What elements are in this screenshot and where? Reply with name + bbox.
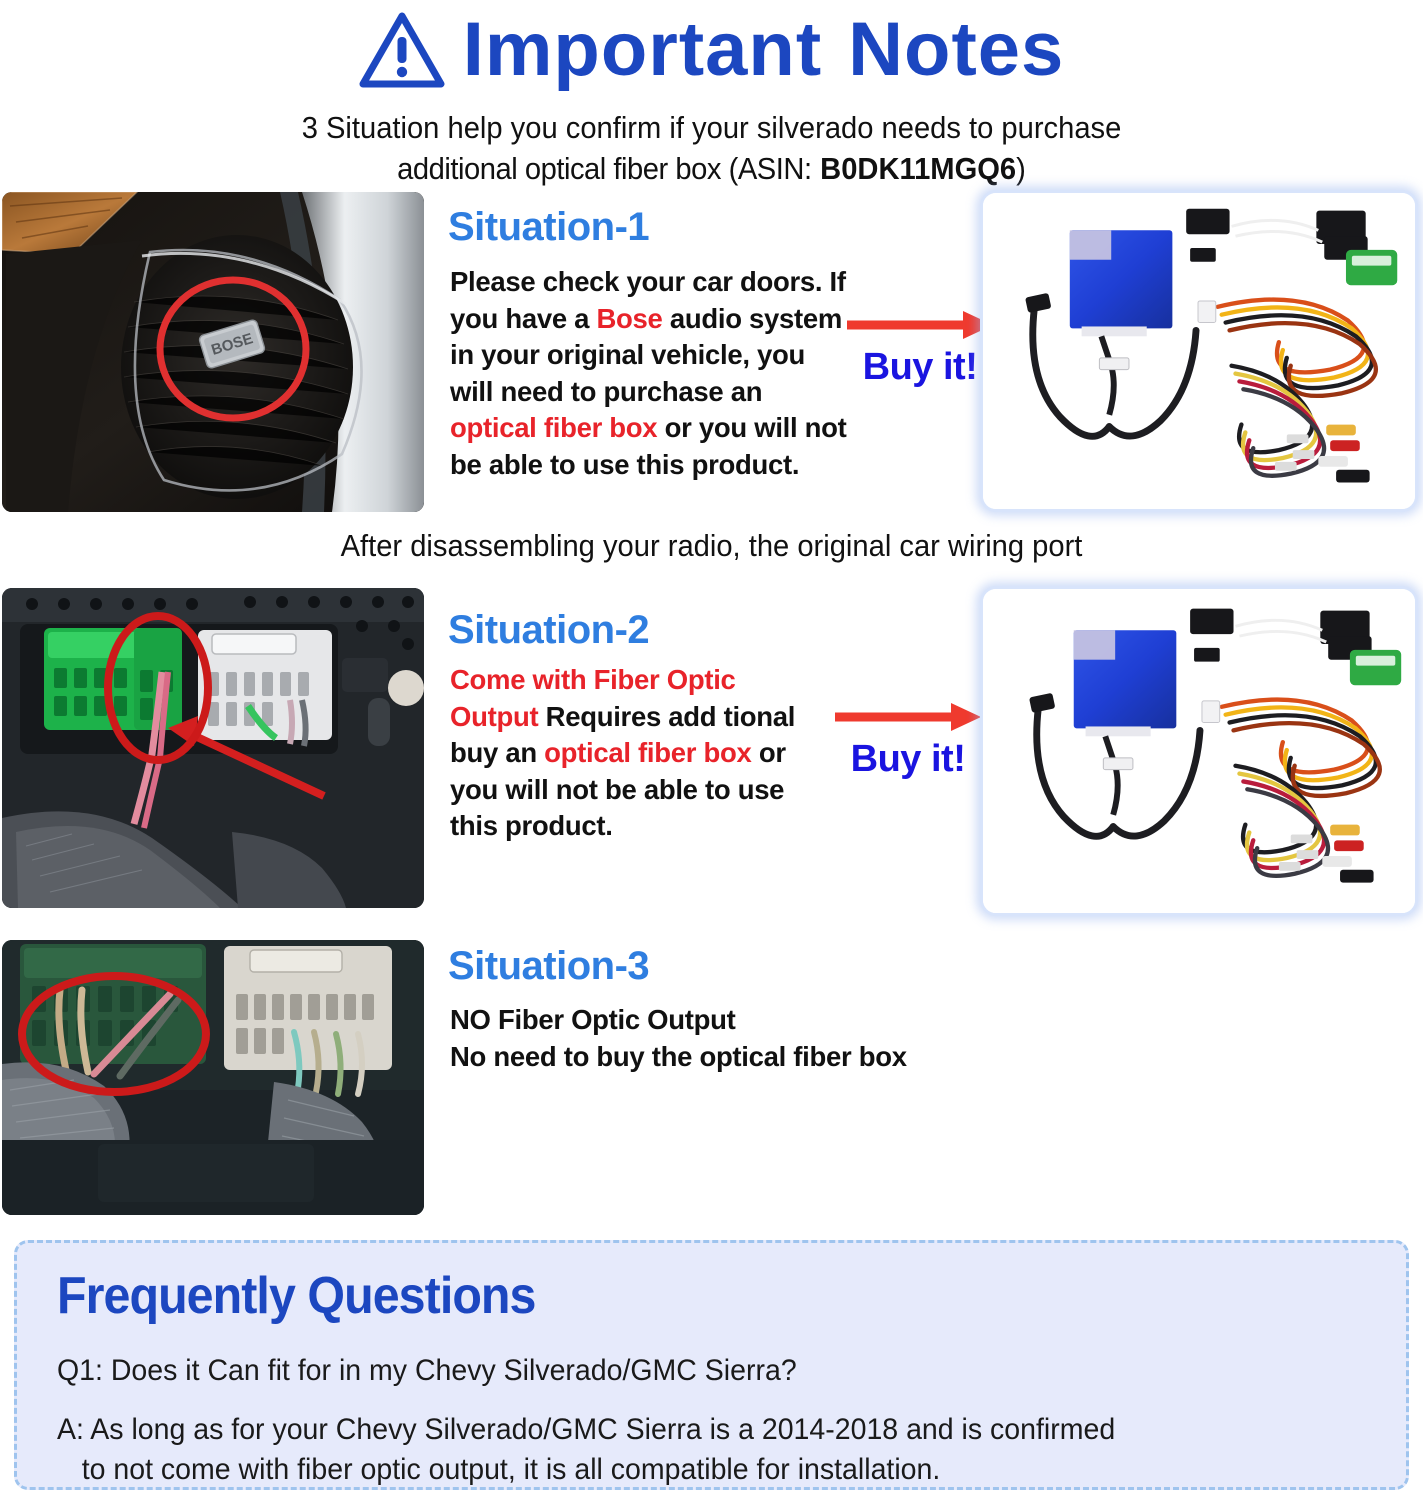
situation-1-heading: Situation-1 [448, 205, 649, 250]
situation-1-buy-callout: Buy it! [845, 308, 995, 389]
page-title-part1: Important [463, 7, 822, 92]
s2-comewith: Come with Fiber Optic [450, 664, 736, 695]
faq-answer: A: As long as for your Chevy Silverado/G… [57, 1410, 1306, 1492]
optical-fiber-box-harness-photo-1 [980, 190, 1418, 512]
s1-t1: Please check your car doors. If [450, 266, 846, 297]
s1-bose: Bose [597, 303, 663, 334]
subtitle-line-1: 3 Situation help you confirm if your sil… [43, 108, 1381, 149]
optical-fiber-box-harness-photo-2 [980, 586, 1418, 916]
s1-t7: to use this product. [550, 449, 799, 480]
mid-caption: After disassembling your radio, the orig… [43, 528, 1381, 564]
faq-question: Q1: Does it Can fit for in my Chevy Silv… [57, 1354, 1306, 1388]
s2-box: box [703, 737, 751, 768]
radio-wiring-port-no-fiber-photo [2, 940, 424, 1215]
faq-title: Frequently Questions [57, 1269, 1280, 1324]
subtitle-asin-prefix: additional optical fiber box (ASIN [397, 151, 804, 186]
situation-2-buy-callout: Buy it! [833, 700, 983, 781]
situation-3-line-2: No need to buy the optical fiber box [450, 1039, 1010, 1076]
subtitle-line-2: additional optical fiber box (ASIN: B0DK… [43, 149, 1381, 190]
page-subtitle: 3 Situation help you confirm if your sil… [43, 108, 1381, 190]
situation-2-heading: Situation-2 [448, 608, 649, 653]
radio-wiring-port-fiber-optic-photo [2, 588, 424, 908]
important-notes-infographic: ImportantNotes 3 Situation help you conf… [0, 0, 1423, 1500]
s1-optical: optical [450, 412, 537, 443]
situation-1-body: Please check your car doors. If you have… [450, 264, 850, 483]
red-arrow-right-icon [833, 700, 983, 734]
s2-output: Output [450, 701, 538, 732]
faq-panel: Frequently Questions Q1: Does it Can fit… [14, 1240, 1409, 1490]
red-arrow-right-icon [845, 308, 995, 342]
s1-fiberbox: fiber box [544, 412, 657, 443]
s2-t1: Requires add [538, 701, 716, 732]
page-title: ImportantNotes [463, 12, 1065, 88]
situation-3-line-1: NO Fiber Optic Output [450, 1002, 1010, 1039]
page-title-part2: Notes [848, 7, 1064, 92]
s2-opticalfiber: optical fiber [544, 737, 696, 768]
faq-answer-line-1: A: As long as for your Chevy Silverado/G… [57, 1413, 1115, 1446]
asin-code: B0DK11MGQ6 [820, 151, 1016, 186]
situation-3-heading: Situation-3 [448, 944, 649, 989]
s1-t3: audio system [663, 303, 843, 334]
page-header: ImportantNotes [0, 0, 1423, 100]
s1-t2: you have a [450, 303, 597, 334]
subtitle-asin-separator: : [804, 151, 820, 186]
warning-triangle-icon [359, 11, 445, 89]
car-door-bose-speaker-photo: BOSE [2, 192, 424, 512]
s1-t5: need to purchase an [500, 376, 762, 407]
faq-answer-line-2: to not come with fiber optic output, it … [57, 1450, 1306, 1491]
situation-2-buy-label: Buy it! [833, 738, 983, 781]
situation-2-body: Come with Fiber Optic Output Requires ad… [450, 662, 830, 845]
situation-3-body: NO Fiber Optic Output No need to buy the… [450, 1002, 1010, 1075]
subtitle-asin-suffix: ) [1016, 151, 1026, 186]
situation-1-buy-label: Buy it! [845, 346, 995, 389]
